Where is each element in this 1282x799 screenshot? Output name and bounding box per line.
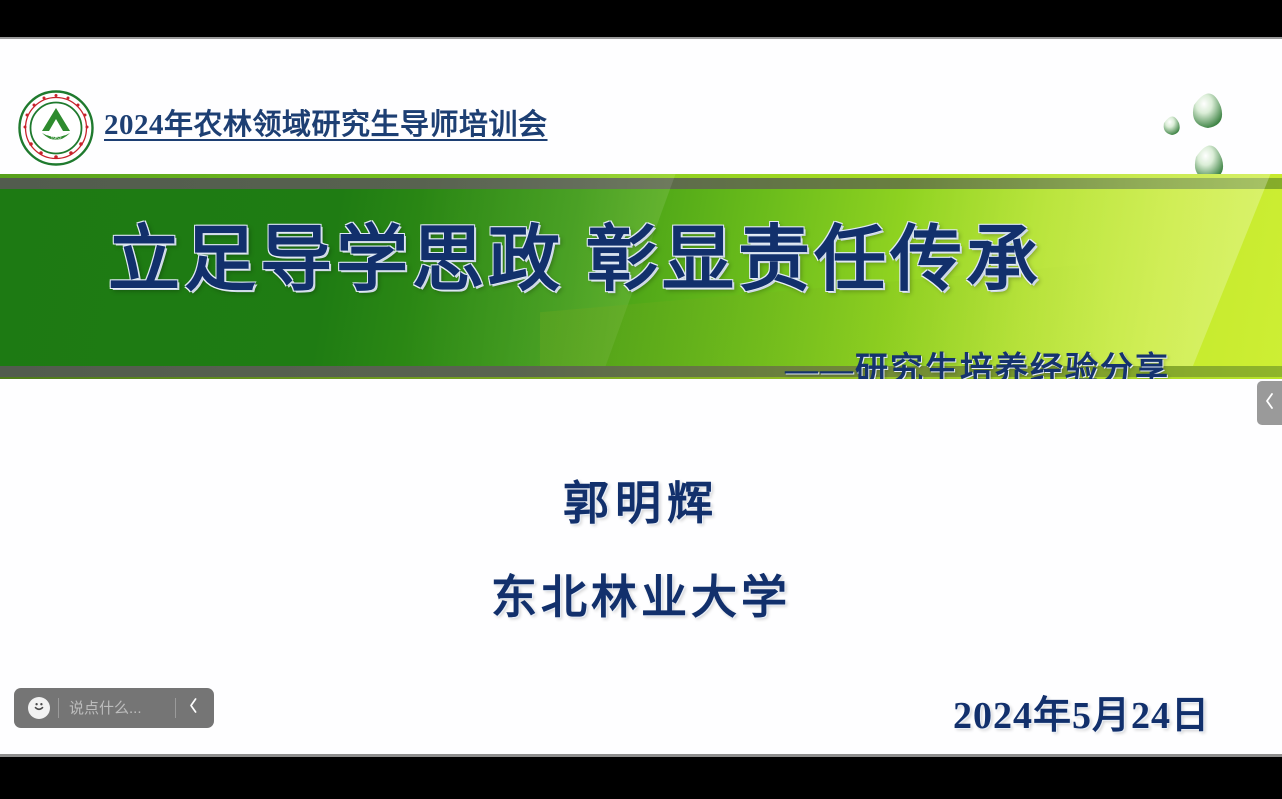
smiley-face-icon [31,698,47,719]
northeast-forestry-university-seal-icon: 1952 [17,89,95,167]
chat-message-input[interactable] [59,700,175,717]
letterbox-bar-bottom [0,757,1282,799]
emoji-picker-button[interactable] [28,697,50,719]
presentation-slide: 1952 2024年农林领域研究生导师培训会 [0,39,1282,754]
slide-subtitle: ——研究生培养经验分享 [785,342,1170,379]
presenter-name: 郭明辉 [0,467,1282,533]
svg-text:1952: 1952 [50,136,61,142]
chat-input-bar[interactable] [14,688,214,728]
video-viewport: 1952 2024年农林领域研究生导师培训会 [0,0,1282,799]
letterbox-bar-top [0,0,1282,37]
presenter-institution: 东北林业大学 [0,561,1282,627]
side-panel-toggle-button[interactable] [1257,381,1282,425]
slide-main-title: 立足导学思政 彰显责任传承 [108,200,1042,305]
page-title: 2024年农林领域研究生导师培训会 [104,101,548,143]
chevron-left-icon [1264,392,1275,415]
chat-collapse-button[interactable] [176,688,210,728]
slide-header: 1952 2024年农林领域研究生导师培训会 [0,39,1282,170]
chevron-left-icon [188,697,199,719]
slide-title-banner: 立足导学思政 彰显责任传承 ——研究生培养经验分享 [0,174,1282,379]
slide-date: 2024年5月24日 [953,684,1210,739]
banner-top-bar [0,178,1282,189]
